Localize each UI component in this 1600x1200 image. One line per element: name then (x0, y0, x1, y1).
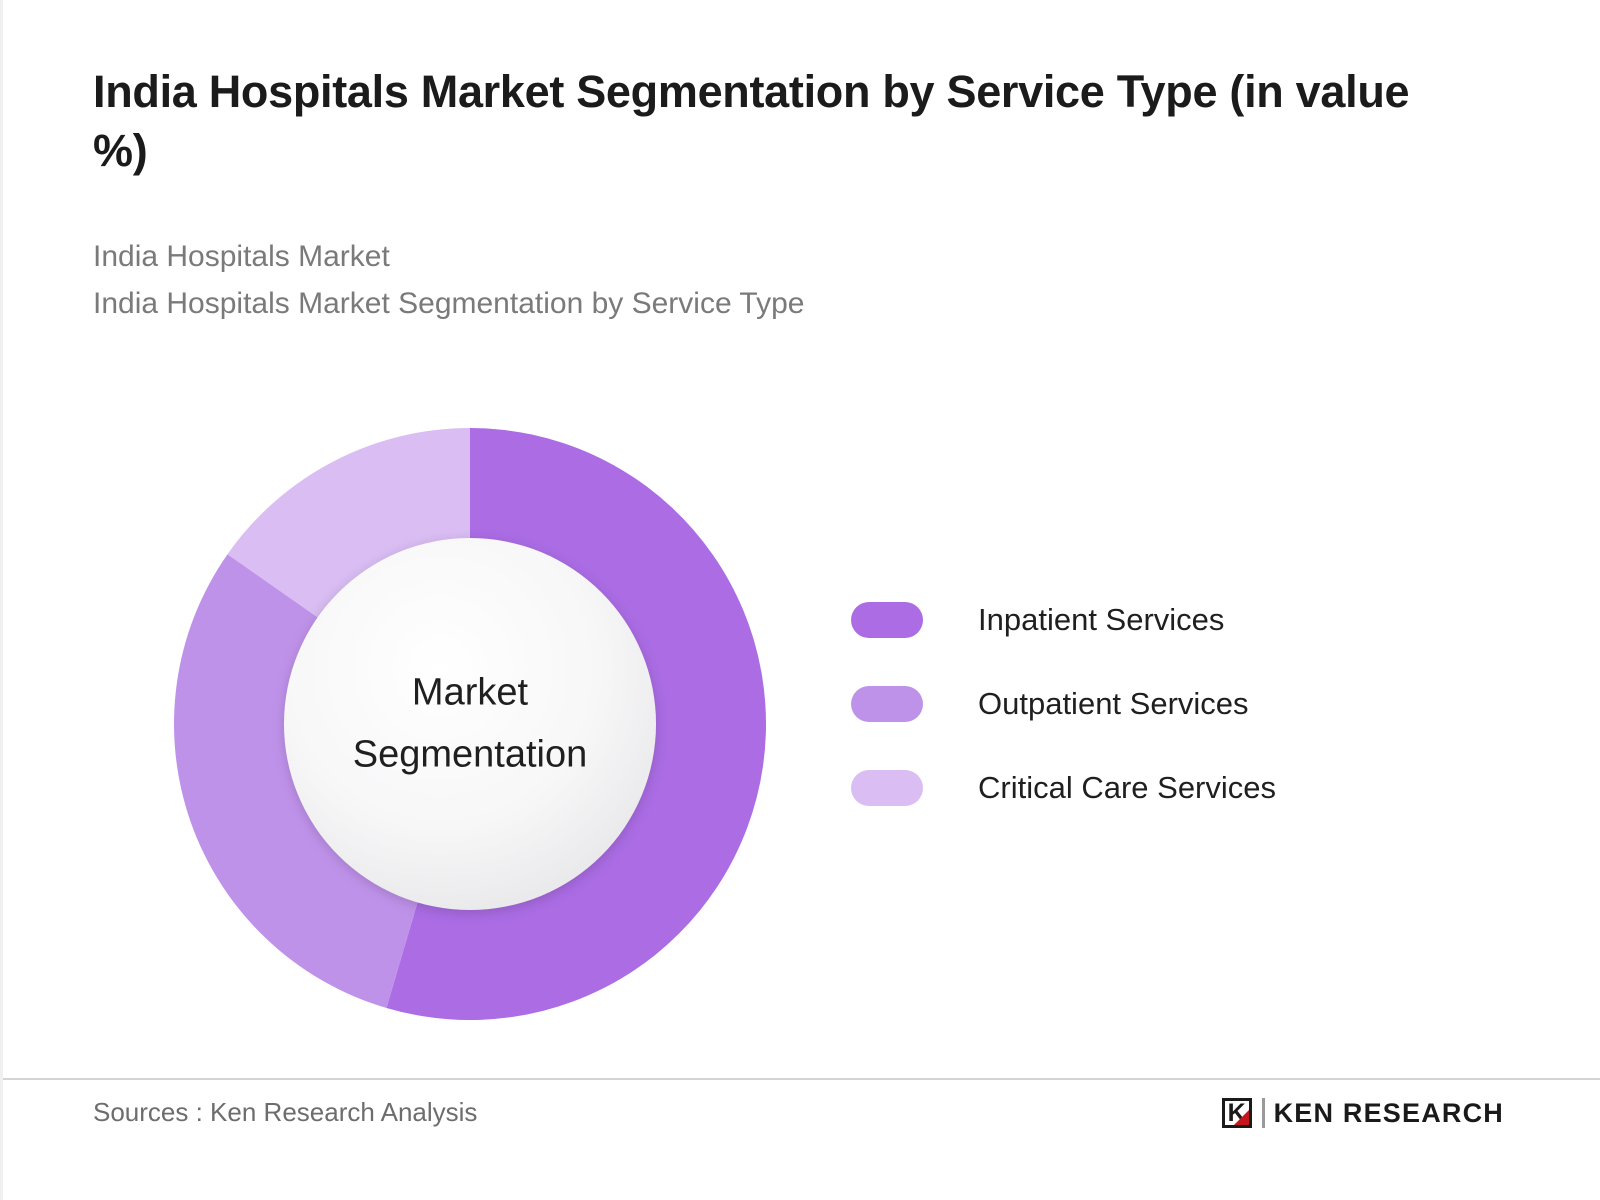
legend-item-label: Inpatient Services (978, 602, 1224, 638)
legend-item[interactable]: Outpatient Services (851, 662, 1276, 746)
subtitle-line-2: India Hospitals Market Segmentation by S… (93, 280, 1493, 327)
donut-center-disc (284, 538, 656, 910)
header: India Hospitals Market Segmentation by S… (93, 62, 1493, 328)
sources-text: Sources : Ken Research Analysis (93, 1097, 477, 1128)
legend-item[interactable]: Inpatient Services (851, 578, 1276, 662)
subtitle-block: India Hospitals Market India Hospitals M… (93, 233, 1493, 328)
ken-logo-triangle-icon (1234, 1110, 1249, 1125)
ken-logo-wordmark: KEN RESEARCH (1274, 1098, 1504, 1129)
slide-canvas: India Hospitals Market Segmentation by S… (0, 0, 1600, 1200)
ken-logo-divider (1262, 1098, 1265, 1128)
legend-swatch-icon (851, 602, 923, 638)
donut-chart: Market Segmentation (174, 428, 766, 1020)
legend-swatch-icon (851, 686, 923, 722)
ken-logo-mark-icon: K (1222, 1098, 1252, 1128)
footer-divider (3, 1078, 1600, 1080)
legend-swatch-icon (851, 770, 923, 806)
legend-item[interactable]: Critical Care Services (851, 746, 1276, 830)
legend: Inpatient ServicesOutpatient ServicesCri… (851, 578, 1276, 830)
page-title: India Hospitals Market Segmentation by S… (93, 62, 1463, 181)
legend-item-label: Outpatient Services (978, 686, 1249, 722)
chart-area: Market Segmentation Inpatient ServicesOu… (3, 400, 1600, 1050)
ken-research-logo: K KEN RESEARCH (1222, 1096, 1504, 1130)
subtitle-line-1: India Hospitals Market (93, 233, 1493, 280)
legend-item-label: Critical Care Services (978, 770, 1276, 806)
donut-svg (174, 428, 766, 1020)
